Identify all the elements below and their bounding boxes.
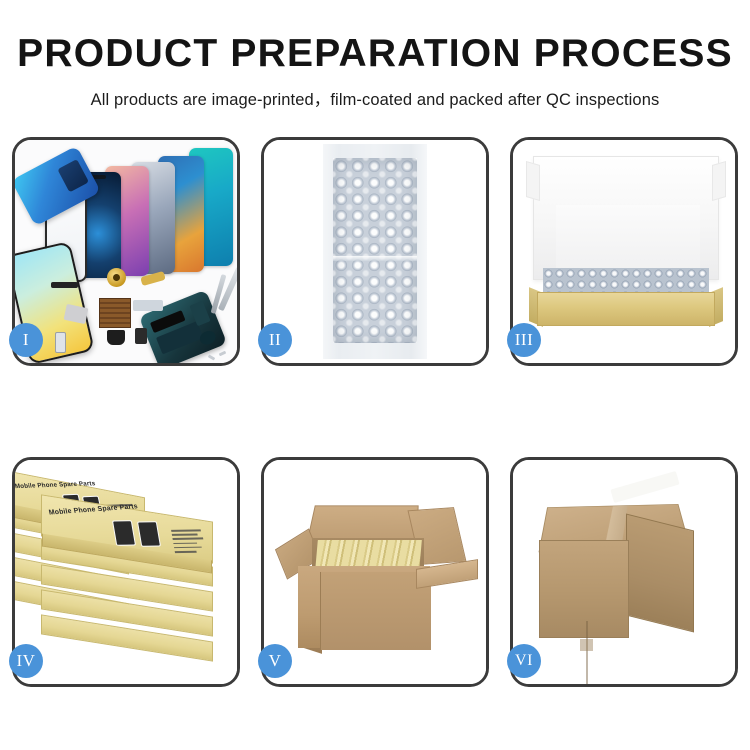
process-step-card-2[interactable]: II — [261, 137, 489, 366]
box-screen-thumb-icon — [137, 521, 161, 547]
step-2-image — [264, 140, 486, 363]
pouch-seam — [333, 256, 417, 261]
screw-icon — [208, 354, 216, 360]
carton-right-face — [626, 514, 694, 633]
step-badge-6: VI — [507, 644, 541, 678]
phone-parts-scene — [15, 140, 237, 363]
carton-tab-icon — [580, 639, 593, 651]
circuit-board-icon — [99, 298, 131, 328]
process-steps-grid: I II III — [12, 137, 738, 687]
step-badge-1: I — [9, 323, 43, 357]
loudspeaker-module-icon — [107, 330, 125, 345]
step-badge-2: II — [258, 323, 292, 357]
retail-box-label: Mobile Phone Spare Parts — [15, 480, 96, 490]
box-screen-thumb-icon — [112, 520, 136, 546]
open-mailer-scene — [513, 140, 735, 363]
step-badge-3: III — [507, 323, 541, 357]
carton-seam — [586, 621, 588, 684]
step-3-image — [513, 140, 735, 363]
retail-box-label: Mobile Phone Spare Parts — [48, 503, 138, 517]
step-6-image — [513, 460, 735, 684]
earpiece-bar-icon — [51, 282, 78, 288]
bubble-wrap-pouch-icon — [323, 144, 427, 359]
mailer-white-lid-icon — [533, 156, 719, 280]
mailer-kraft-base-icon — [537, 292, 715, 326]
step-badge-4: IV — [9, 644, 43, 678]
sealed-carton-scene — [513, 460, 735, 684]
step-1-image — [15, 140, 237, 363]
page-title: PRODUCT PREPARATION PROCESS — [0, 34, 750, 75]
step-badge-5: V — [258, 644, 292, 678]
process-step-card-1[interactable]: I — [12, 137, 240, 366]
packing-tape-overhang-icon — [610, 471, 679, 503]
step-4-image: Mobile Phone Spare Parts Mobile Phone Sp… — [15, 460, 237, 684]
box-spec-lines — [171, 529, 206, 555]
flex-cable-grey-icon — [133, 300, 163, 311]
camera-module-icon — [135, 328, 147, 344]
stacked-boxes-scene: Mobile Phone Spare Parts Mobile Phone Sp… — [15, 460, 237, 684]
bubble-wrap-scene — [264, 140, 486, 363]
process-step-card-6[interactable]: VI — [510, 457, 738, 687]
page-subtitle: All products are image-printed，film-coat… — [0, 86, 750, 110]
open-carton-scene — [264, 460, 486, 684]
bubble-wrapped-contents-icon — [543, 268, 709, 294]
step-5-image — [264, 460, 486, 684]
mailer-inner-fold — [556, 205, 700, 277]
bubble-wrap-texture — [333, 158, 417, 343]
carton-front-face — [539, 540, 629, 638]
process-step-card-4[interactable]: Mobile Phone Spare Parts Mobile Phone Sp… — [12, 457, 240, 687]
carton-front-face — [320, 572, 431, 650]
page-header: PRODUCT PREPARATION PROCESS All products… — [0, 0, 750, 110]
screw-icon — [219, 351, 227, 357]
sim-tray-icon — [55, 332, 66, 353]
process-step-card-5[interactable]: V — [261, 457, 489, 687]
process-step-card-3[interactable]: III — [510, 137, 738, 366]
speaker-coil-icon — [107, 268, 126, 287]
